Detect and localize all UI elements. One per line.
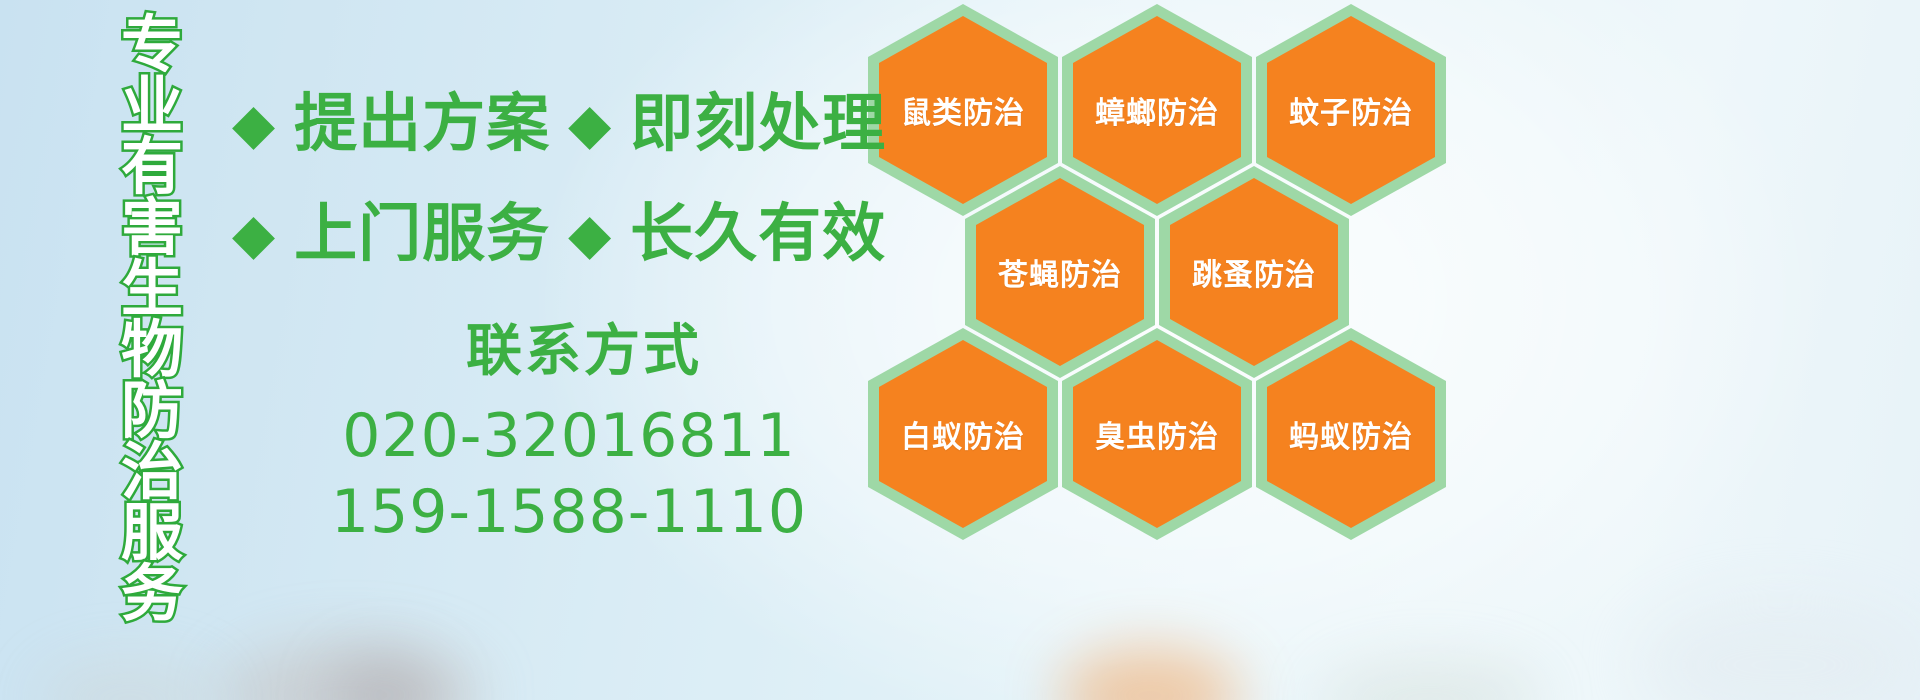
contact-title: 联系方式 <box>308 320 860 384</box>
vertical-headline-char: 防 <box>121 380 183 441</box>
feature-label: 即刻处理 <box>630 87 886 160</box>
vertical-headline-char: 生 <box>121 258 183 319</box>
service-hexagon-label: 蚊子防治 <box>1289 88 1413 132</box>
vertical-headline-char: 害 <box>121 197 183 258</box>
vertical-headline-char: 专 <box>121 14 183 75</box>
service-hexagon-label: 白蚁防治 <box>901 412 1025 456</box>
background-blur-blob <box>40 660 220 700</box>
background-blur-blob <box>1060 648 1240 700</box>
background-blur-blob <box>220 640 480 700</box>
diamond-bullet-icon: ◆ <box>568 92 612 157</box>
diamond-bullet-icon: ◆ <box>232 92 276 157</box>
vertical-headline: 专 业 有 害 生 物 防 治 服 务 <box>104 14 200 562</box>
feature-label: 上门服务 <box>294 197 550 270</box>
phone-number-landline[interactable]: 020-32016811 <box>278 398 860 474</box>
service-hexagon-label: 蚂蚁防治 <box>1289 412 1413 456</box>
vertical-headline-char: 务 <box>121 563 183 624</box>
service-hexagon-label: 臭虫防治 <box>1095 412 1219 456</box>
phone-number-mobile[interactable]: 159-1588-1110 <box>278 474 860 550</box>
service-hexagon-label: 苍蝇防治 <box>998 250 1122 294</box>
service-hexagon-label: 蟑螂防治 <box>1095 88 1219 132</box>
service-hexagon-bedbug[interactable]: 臭虫防治 <box>1062 328 1252 540</box>
service-hexagon-label: 跳蚤防治 <box>1192 250 1316 294</box>
vertical-headline-char: 业 <box>121 75 183 136</box>
service-hexagon-label: 鼠类防治 <box>901 88 1025 132</box>
background-blur-blob <box>1640 600 1920 700</box>
background-blur-blob <box>1320 660 1540 700</box>
diamond-bullet-icon: ◆ <box>568 202 612 267</box>
feature-label: 长久有效 <box>630 197 886 270</box>
vertical-headline-char: 治 <box>121 441 183 502</box>
vertical-headline-char: 服 <box>121 502 183 563</box>
feature-line-1: ◆提出方案◆即刻处理 <box>232 92 886 156</box>
vertical-headline-char: 有 <box>121 136 183 197</box>
service-hexagon-termite[interactable]: 白蚁防治 <box>868 328 1058 540</box>
background-blur-blob <box>330 655 440 700</box>
promo-banner: 专 业 有 害 生 物 防 治 服 务 ◆提出方案◆即刻处理 ◆上门服务◆长久有… <box>0 0 1920 700</box>
contact-block: 联系方式 020-32016811 159-1588-1110 <box>240 320 860 550</box>
service-hexagon-ant[interactable]: 蚂蚁防治 <box>1256 328 1446 540</box>
feature-label: 提出方案 <box>294 87 550 160</box>
diamond-bullet-icon: ◆ <box>232 202 276 267</box>
service-honeycomb: 鼠类防治 蟑螂防治 蚊子防治 苍蝇防治 跳蚤防治 白蚁防治 <box>860 0 1480 546</box>
feature-line-2: ◆上门服务◆长久有效 <box>232 202 886 266</box>
vertical-headline-char: 物 <box>121 319 183 380</box>
